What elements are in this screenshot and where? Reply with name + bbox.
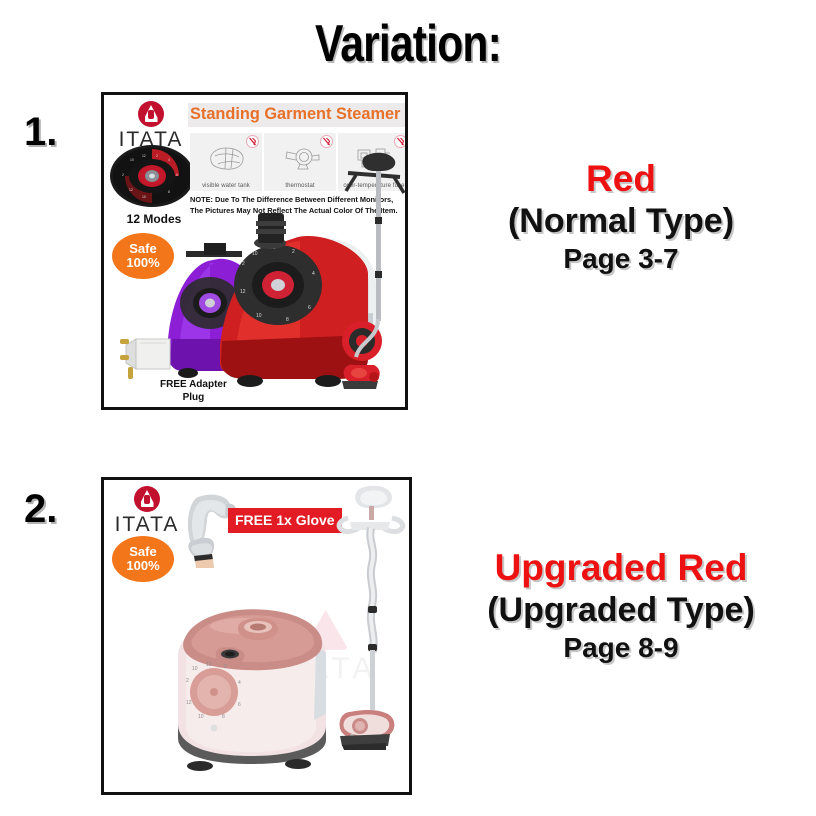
control-dial-art: 10122 468 10122 bbox=[110, 145, 194, 207]
svg-text:2: 2 bbox=[292, 249, 295, 255]
thermostat-sketch-icon bbox=[278, 143, 322, 173]
svg-text:8: 8 bbox=[286, 317, 289, 323]
safe-badge-2: Safe 100% bbox=[112, 536, 174, 582]
garment-pole-art bbox=[334, 143, 408, 403]
adapter-plug-label-line1: FREE Adapter bbox=[160, 379, 227, 390]
variant-page-label: Page 8-9 bbox=[426, 630, 816, 665]
svg-text:8: 8 bbox=[222, 714, 225, 720]
feature-label: thermostat bbox=[285, 183, 314, 189]
svg-text:12: 12 bbox=[142, 154, 146, 158]
no-leak-badge-icon bbox=[246, 135, 259, 148]
variant-index-1: 1. bbox=[24, 110, 57, 155]
feature-panel-thermostat: thermostat bbox=[264, 133, 336, 191]
svg-text:10: 10 bbox=[256, 313, 262, 319]
product-image-2[interactable]: ITATA ITATA Safe 100% bbox=[101, 477, 412, 795]
svg-text:2: 2 bbox=[156, 154, 158, 158]
feature-panel-water-tank: visible water tank bbox=[190, 133, 262, 191]
itata-triangle-mark-icon bbox=[134, 486, 160, 512]
svg-text:6: 6 bbox=[176, 173, 178, 177]
brand-logo-2: ITATA bbox=[110, 486, 184, 537]
variant-row-2: 2. ITATA ITATA Safe 100% bbox=[0, 477, 816, 797]
svg-text:10: 10 bbox=[130, 158, 134, 162]
svg-text:6: 6 bbox=[308, 305, 311, 311]
svg-text:2: 2 bbox=[242, 261, 245, 267]
safe-badge-line2: 100% bbox=[126, 559, 159, 573]
svg-text:10: 10 bbox=[142, 195, 146, 199]
feature-label: visible water tank bbox=[202, 183, 250, 189]
variant-page-label: Page 3-7 bbox=[426, 241, 816, 276]
variant-color-name: Red bbox=[426, 158, 816, 201]
safe-badge-line1: Safe bbox=[129, 545, 156, 559]
free-glove-banner: FREE 1x Glove bbox=[228, 508, 342, 533]
variant-type-label: (Normal Type) bbox=[426, 201, 816, 242]
product-canvas-2: ITATA ITATA Safe 100% bbox=[104, 480, 409, 792]
header-title: Standing Garment Steamer bbox=[190, 104, 401, 124]
svg-text:8: 8 bbox=[168, 190, 170, 194]
itata-triangle-mark-icon bbox=[138, 101, 164, 127]
water-tank-sketch-icon bbox=[204, 143, 248, 173]
svg-text:6: 6 bbox=[238, 702, 241, 708]
svg-text:4: 4 bbox=[168, 158, 170, 162]
adapter-plug-label: FREE Adapter Plug bbox=[160, 379, 227, 404]
svg-text:10: 10 bbox=[192, 666, 198, 672]
variant-type-label: (Upgraded Type) bbox=[426, 590, 816, 631]
svg-text:2: 2 bbox=[186, 678, 189, 684]
product-canvas-1: ITATA ITATA 10122 bbox=[104, 95, 405, 407]
adapter-plug-art bbox=[118, 333, 176, 383]
svg-text:2: 2 bbox=[122, 173, 124, 177]
variant-row-1: 1. ITATA ITATA bbox=[0, 92, 816, 412]
svg-text:12: 12 bbox=[240, 289, 246, 295]
svg-text:2: 2 bbox=[224, 664, 227, 670]
svg-text:4: 4 bbox=[238, 680, 241, 686]
variant-color-name: Upgraded Red bbox=[426, 547, 816, 590]
modes-label: 12 Modes bbox=[118, 212, 190, 226]
svg-text:12: 12 bbox=[186, 700, 192, 706]
svg-text:12: 12 bbox=[206, 662, 212, 668]
brand-name: ITATA bbox=[110, 513, 184, 537]
adapter-plug-label-line2: Plug bbox=[183, 392, 205, 403]
svg-text:4: 4 bbox=[312, 271, 315, 277]
variant-description-1: Red (Normal Type) Page 3-7 bbox=[426, 158, 816, 276]
pink-steamer-base-art: 10122 468 10122 bbox=[148, 596, 348, 776]
variant-description-2: Upgraded Red (Upgraded Type) Page 8-9 bbox=[426, 547, 816, 665]
variant-index-2: 2. bbox=[24, 487, 57, 532]
product-image-1[interactable]: ITATA ITATA 10122 bbox=[101, 92, 408, 410]
svg-text:10: 10 bbox=[198, 714, 204, 720]
no-leak-badge-icon bbox=[320, 135, 333, 148]
page-title: Variation: bbox=[73, 14, 742, 74]
svg-text:10: 10 bbox=[252, 251, 258, 257]
svg-text:12: 12 bbox=[129, 188, 133, 192]
